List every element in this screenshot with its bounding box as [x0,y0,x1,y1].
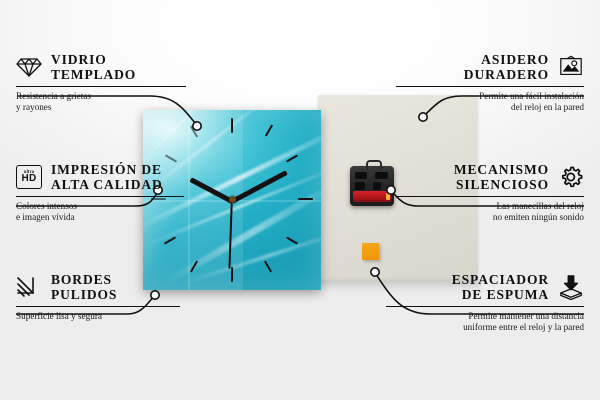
diamond-icon [16,54,42,80]
clock-tick [231,267,233,282]
battery-terminal [386,193,390,200]
clock-tick [298,198,313,200]
feature-description: Permite una fácil instalación del reloj … [396,91,584,114]
feature-title: ESPACIADOR DE ESPUMA [452,272,549,302]
polished-edges-icon [16,274,42,300]
feature-rule [16,86,186,87]
feature-rule [16,196,184,197]
feature-title: VIDRIO TEMPLADO [51,52,136,82]
feature-title: ASIDERO DURADERO [464,52,549,82]
mechanism-slot [355,182,365,190]
gear-icon [558,164,584,190]
feature-bordes-pulidos: BORDES PULIDOS Superficie lisa y segura [16,272,194,322]
feature-title: IMPRESIÓN DE ALTA CALIDAD [51,162,163,192]
wall-hanger-picture-icon [558,54,584,80]
mechanism-slot [375,172,388,179]
feature-asidero-duradero: ASIDERO DURADERO Permite una fácil insta… [396,52,584,114]
feature-title: MECANISMO SILENCIOSO [454,162,549,192]
mechanism-hanger [366,160,382,170]
feature-rule [396,196,584,197]
feature-description: Superficie lisa y segura [16,311,194,322]
feature-description: Las manecillas del reloj no emiten ningú… [396,201,584,224]
mechanism-slot [373,182,381,190]
foam-spacer-arrow-icon [558,274,584,300]
infographic-canvas: VIDRIO TEMPLADO Resistencia a grietas y … [0,0,600,400]
ultra-hd-icon: ultra HD [16,164,42,190]
foam-spacer [362,243,379,260]
feature-mecanismo-silencioso: MECANISMO SILENCIOSO Las manecillas del … [396,162,584,224]
clock-mechanism [350,166,394,206]
mechanism-battery [353,191,391,202]
feature-rule [386,306,584,307]
ultra-hd-icon-main-text: HD [21,174,36,184]
feature-description: Resistencia a grietas y rayones [16,91,194,114]
clock-center-hub [229,196,236,203]
feature-rule [16,306,180,307]
feature-rule [396,86,584,87]
feature-vidrio-templado: VIDRIO TEMPLADO Resistencia a grietas y … [16,52,194,114]
feature-espaciador-de-espuma: ESPACIADOR DE ESPUMA Permite mantener un… [386,272,584,334]
clock-tick [231,118,233,133]
feature-title: BORDES PULIDOS [51,272,117,302]
feature-impresion-alta-calidad: ultra HD IMPRESIÓN DE ALTA CALIDAD Color… [16,162,198,224]
feature-description: Colores intensos e imagen vívida [16,201,198,224]
feature-description: Permite mantener una distancia uniforme … [386,311,584,334]
mechanism-slot [355,172,367,179]
